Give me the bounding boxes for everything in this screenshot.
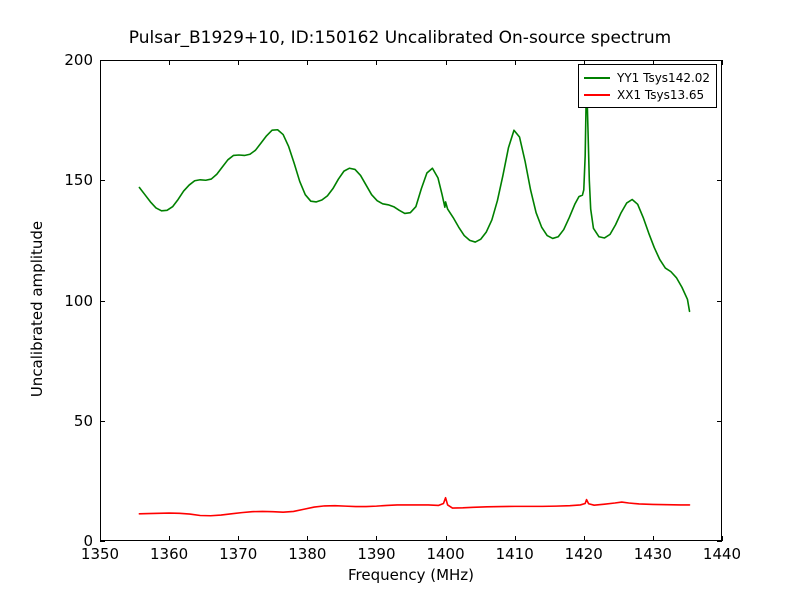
y-tick-mark (100, 301, 105, 302)
y-tick-label: 0 (83, 532, 93, 550)
x-tick-label: 1360 (150, 545, 188, 563)
legend: YY1 Tsys142.02 XX1 Tsys13.65 (578, 64, 717, 108)
legend-color-swatch-xx1 (584, 94, 610, 96)
x-tick-mark (515, 60, 516, 65)
x-tick-mark (722, 536, 723, 541)
x-axis-label: Frequency (MHz) (100, 566, 722, 584)
x-tick-mark (238, 536, 239, 541)
y-tick-mark (717, 180, 722, 181)
y-tick-mark (717, 60, 722, 61)
series-line-xx1 (139, 498, 689, 516)
x-tick-label: 1410 (496, 545, 534, 563)
x-tick-label: 1400 (426, 545, 464, 563)
page-title: Pulsar_B1929+10, ID:150162 Uncalibrated … (0, 28, 800, 48)
y-tick-mark (100, 541, 105, 542)
x-tick-mark (584, 536, 585, 541)
series-layer (139, 77, 689, 516)
y-tick-mark (717, 301, 722, 302)
legend-item: YY1 Tsys142.02 (584, 69, 710, 86)
y-tick-mark (100, 60, 105, 61)
legend-label-xx1: XX1 Tsys13.65 (617, 88, 704, 102)
x-tick-mark (446, 536, 447, 541)
y-tick-label: 200 (64, 51, 93, 69)
legend-label-yy1: YY1 Tsys142.02 (617, 71, 710, 85)
matplotlib-figure: Pulsar_B1929+10, ID:150162 Uncalibrated … (0, 0, 800, 600)
x-tick-label: 1440 (703, 545, 741, 563)
legend-color-swatch-yy1 (584, 77, 610, 79)
y-tick-mark (717, 541, 722, 542)
x-tick-mark (515, 536, 516, 541)
x-tick-label: 1430 (634, 545, 672, 563)
y-tick-label: 50 (74, 412, 93, 430)
x-tick-mark (722, 60, 723, 65)
y-tick-label: 150 (64, 171, 93, 189)
y-tick-mark (100, 180, 105, 181)
y-axis-label: Uncalibrated amplitude (28, 109, 46, 509)
spectrum-plot (100, 60, 722, 541)
x-tick-label: 1370 (219, 545, 257, 563)
x-tick-label: 1420 (565, 545, 603, 563)
x-tick-mark (307, 60, 308, 65)
y-tick-label: 100 (64, 292, 93, 310)
x-tick-mark (169, 536, 170, 541)
x-tick-mark (376, 536, 377, 541)
legend-item: XX1 Tsys13.65 (584, 86, 710, 103)
y-axis-ticks: 050100150200 (0, 0, 93, 600)
series-line-yy1 (139, 77, 689, 311)
y-tick-mark (717, 421, 722, 422)
x-tick-label: 1380 (288, 545, 326, 563)
x-tick-mark (376, 60, 377, 65)
x-tick-mark (169, 60, 170, 65)
x-tick-label: 1390 (357, 545, 395, 563)
x-tick-mark (446, 60, 447, 65)
x-tick-mark (653, 536, 654, 541)
x-tick-mark (238, 60, 239, 65)
x-tick-mark (307, 536, 308, 541)
y-tick-mark (100, 421, 105, 422)
